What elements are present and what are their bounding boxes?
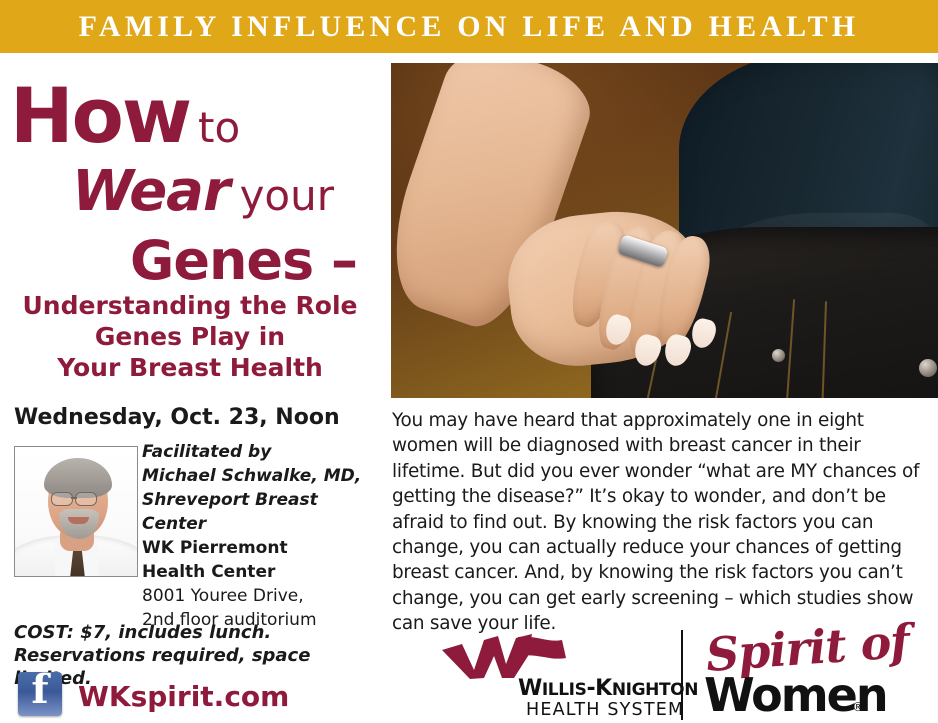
facilitated-by-label: Facilitated by: [142, 440, 382, 464]
cost-line-1: COST: $7, includes lunch.: [14, 621, 374, 644]
glasses-icon: [51, 492, 73, 506]
hero-photo: [391, 63, 938, 398]
website-link[interactable]: WKspirit.com: [78, 680, 289, 713]
top-banner: FAMILY INFLUENCE ON LIFE AND HEALTH: [0, 0, 938, 53]
wk-name-dash: -: [586, 676, 595, 701]
venue-line-2: Health Center: [142, 560, 382, 584]
address-line-1: 8001 Youree Drive,: [142, 584, 382, 608]
headline-line-2: Wearyour: [72, 164, 334, 220]
wk-subtitle: HEALTH SYSTEM: [526, 700, 684, 720]
headline-line-1: Howto: [10, 78, 240, 154]
subheadline-line-3: Your Breast Health: [0, 352, 380, 383]
banner-title: FAMILY INFLUENCE ON LIFE AND HEALTH: [0, 0, 938, 53]
venue-line-1: WK Pierremont: [142, 536, 382, 560]
headline-word-to: to: [198, 103, 240, 152]
subheadline: Understanding the Role Genes Play in You…: [0, 290, 380, 383]
wk-name-nighton: NIGHTON: [612, 680, 698, 700]
headline-word-your: your: [240, 171, 334, 220]
presenter-affiliation: Shreveport Breast Center: [142, 488, 382, 536]
willis-knighton-logo: WILLIS-KNIGHTON HEALTH SYSTEM: [432, 634, 672, 718]
headline-line-3: Genes –: [130, 234, 357, 288]
spirit-of-women-logo: Spirit of Women ®: [700, 630, 932, 720]
jeans-button: [919, 359, 937, 377]
subheadline-line-2: Genes Play in: [0, 321, 380, 352]
body-paragraph: You may have heard that approximately on…: [392, 408, 932, 637]
headline-word-how: How: [10, 71, 190, 160]
headline-word-wear: Wear: [72, 159, 230, 224]
jeans-rivet: [772, 349, 785, 362]
presenter-photo: [14, 446, 138, 577]
presenter-name: Michael Schwalke, MD,: [142, 464, 382, 488]
presenter-details: Facilitated by Michael Schwalke, MD, Shr…: [142, 440, 382, 632]
facebook-glyph: f: [18, 668, 62, 712]
logo-divider: [681, 630, 683, 720]
wk-monogram-icon: [440, 634, 572, 680]
flyer-page: FAMILY INFLUENCE ON LIFE AND HEALTH Howt…: [0, 0, 938, 723]
glasses-bridge-icon: [71, 497, 77, 499]
glasses-icon: [75, 492, 97, 506]
wk-wordmark: WILLIS-KNIGHTON: [518, 676, 698, 701]
event-date-time: Wednesday, Oct. 23, Noon: [14, 405, 340, 430]
subheadline-line-1: Understanding the Role: [0, 290, 380, 321]
facebook-icon[interactable]: f: [18, 672, 62, 716]
registered-trademark-icon: ®: [852, 700, 864, 714]
wk-name-k: K: [595, 676, 612, 701]
wk-name-w: W: [518, 676, 542, 701]
wk-name-illis: ILLIS: [542, 680, 587, 700]
